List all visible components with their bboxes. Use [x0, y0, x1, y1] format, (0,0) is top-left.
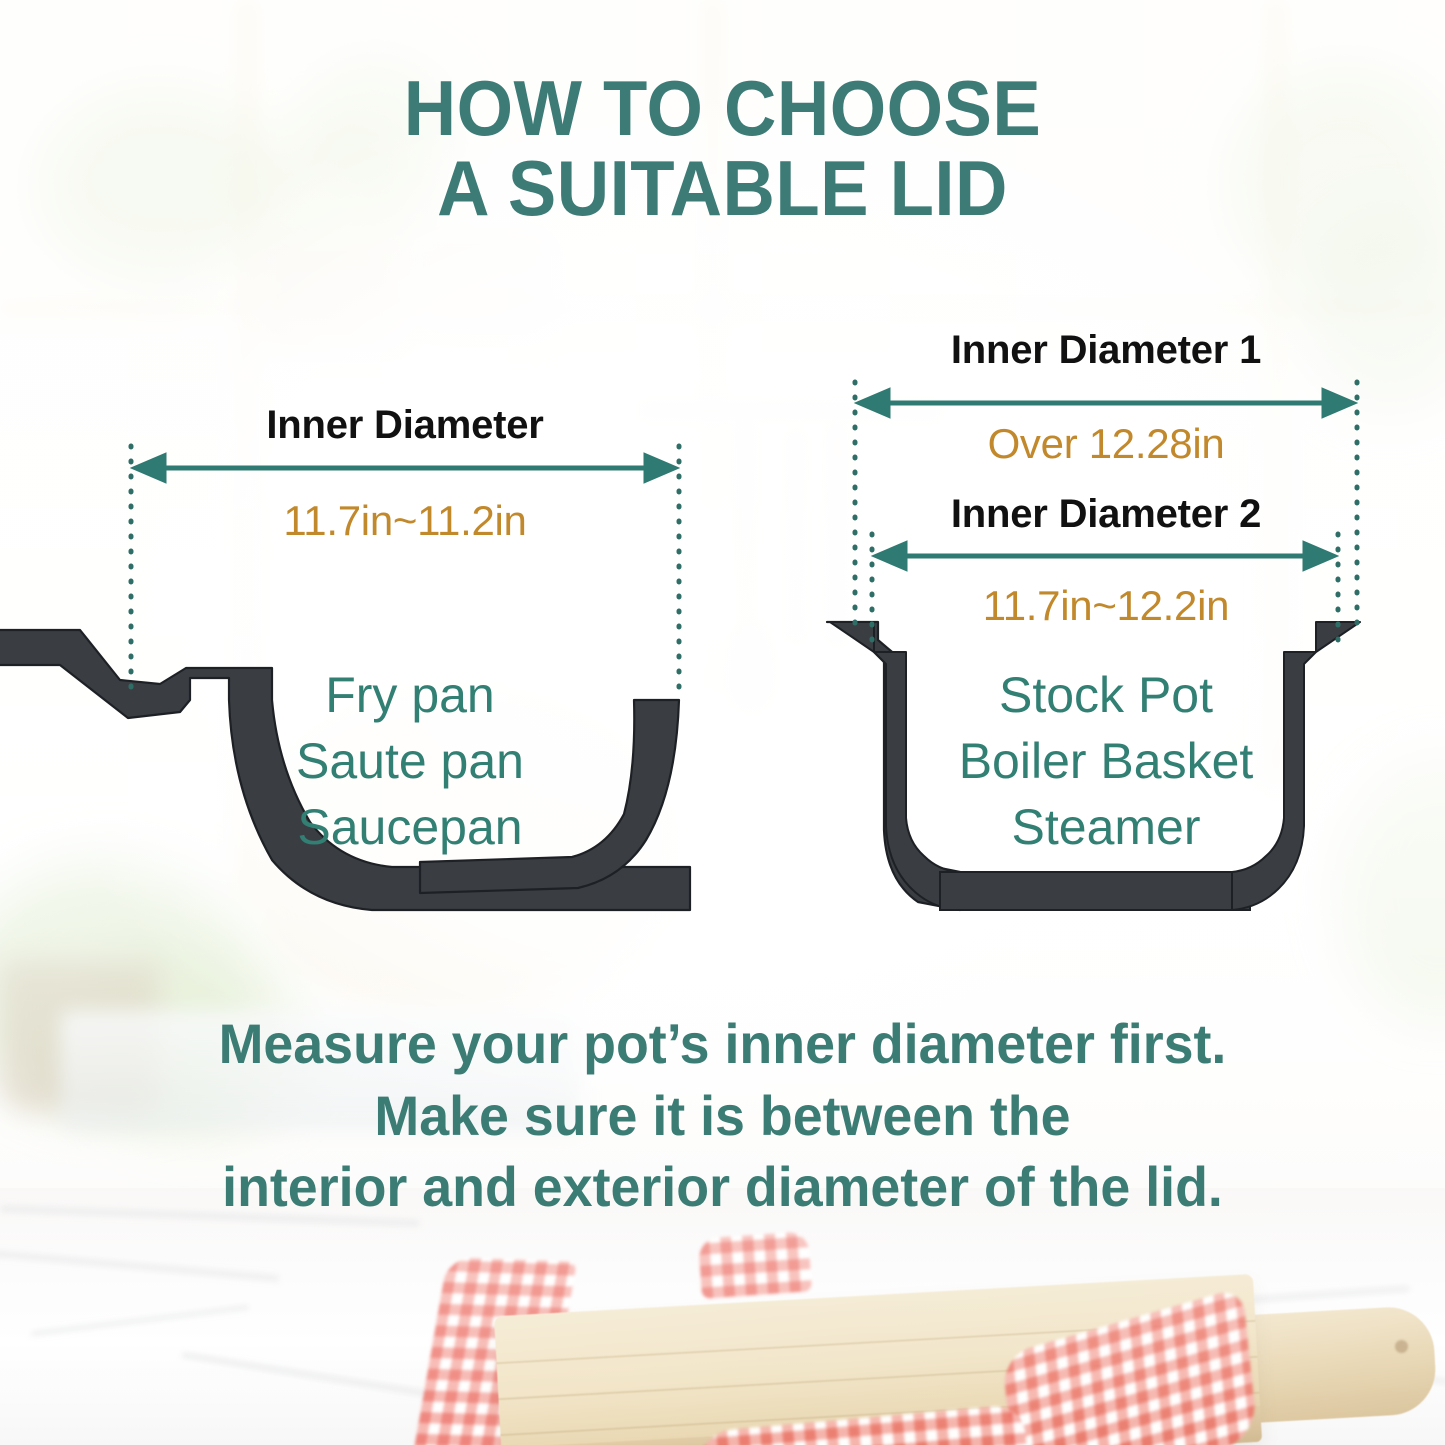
left-cookware-list: Fry pan Saute pan Saucepan — [130, 662, 690, 860]
infographic-canvas: HOW TO CHOOSE A SUITABLE LID — [0, 0, 1445, 1445]
right-inner-diameter-2-value: 11.7in~12.2in — [826, 582, 1386, 630]
footnote-line-2: Make sure it is between the — [29, 1080, 1416, 1152]
arrow-pot-inner-diameter-1 — [855, 388, 1357, 418]
right-inner-diameter-2-label: Inner Diameter 2 — [826, 492, 1386, 537]
arrow-left-pan-inner-diameter — [131, 453, 679, 483]
footnote-line-3: interior and exterior diameter of the li… — [29, 1151, 1416, 1223]
left-cookware-item-3: Saucepan — [130, 794, 690, 860]
right-cookware-item-3: Steamer — [826, 794, 1386, 860]
footnote-line-1: Measure your pot’s inner diameter first. — [29, 1008, 1416, 1080]
infographic-content: HOW TO CHOOSE A SUITABLE LID — [0, 0, 1445, 1445]
right-cookware-item-1: Stock Pot — [826, 662, 1386, 728]
left-inner-diameter-label: Inner Diameter — [0, 403, 810, 448]
instruction-footnote: Measure your pot’s inner diameter first.… — [29, 1008, 1416, 1223]
left-inner-diameter-value: 11.7in~11.2in — [0, 497, 810, 545]
right-inner-diameter-1-label: Inner Diameter 1 — [826, 328, 1386, 373]
right-cookware-list: Stock Pot Boiler Basket Steamer — [826, 662, 1386, 860]
left-cookware-item-2: Saute pan — [130, 728, 690, 794]
right-inner-diameter-1-value: Over 12.28in — [826, 420, 1386, 468]
left-cookware-item-1: Fry pan — [130, 662, 690, 728]
right-cookware-item-2: Boiler Basket — [826, 728, 1386, 794]
arrow-pot-inner-diameter-2 — [872, 541, 1338, 571]
